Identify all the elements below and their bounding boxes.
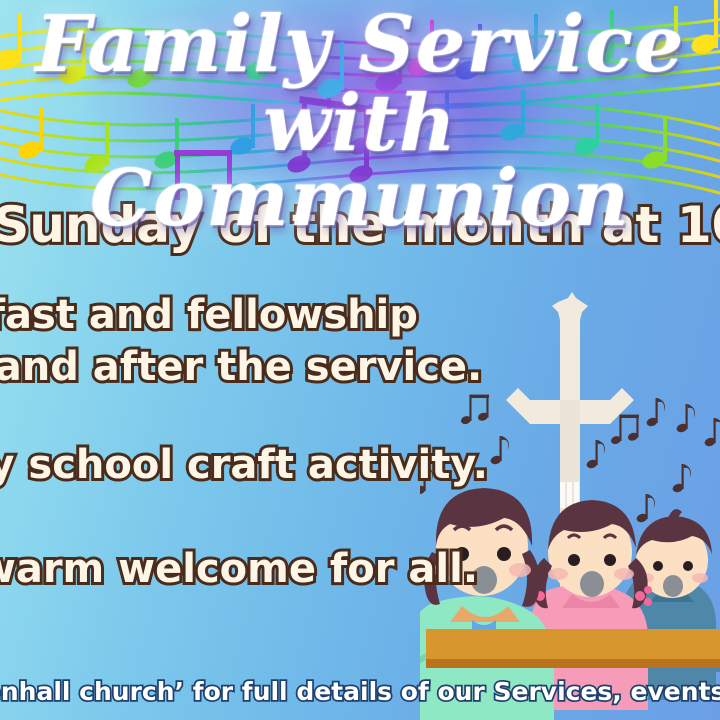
poster-body: t Sunday of the month at 10:3 akfast and… [0,196,720,592]
music-staff-banner [0,0,720,200]
breakfast-line: akfast and fellowship [0,292,720,338]
sunday-school-line: day school craft activity. [0,442,720,488]
service-time-line: t Sunday of the month at 10:3 [0,196,720,254]
poster-canvas: Family Service with Communion [0,0,720,720]
music-staff [0,0,720,200]
welcome-line: A warm welcome for all. [0,546,720,592]
before-after-line: re and after the service. [0,344,720,390]
poster-footer: ttenhall church’ for full details of our… [0,677,720,706]
footer-line: ttenhall church’ for full details of our… [0,677,720,706]
wooden-bench [426,629,720,668]
music-notes-upper [0,0,719,101]
